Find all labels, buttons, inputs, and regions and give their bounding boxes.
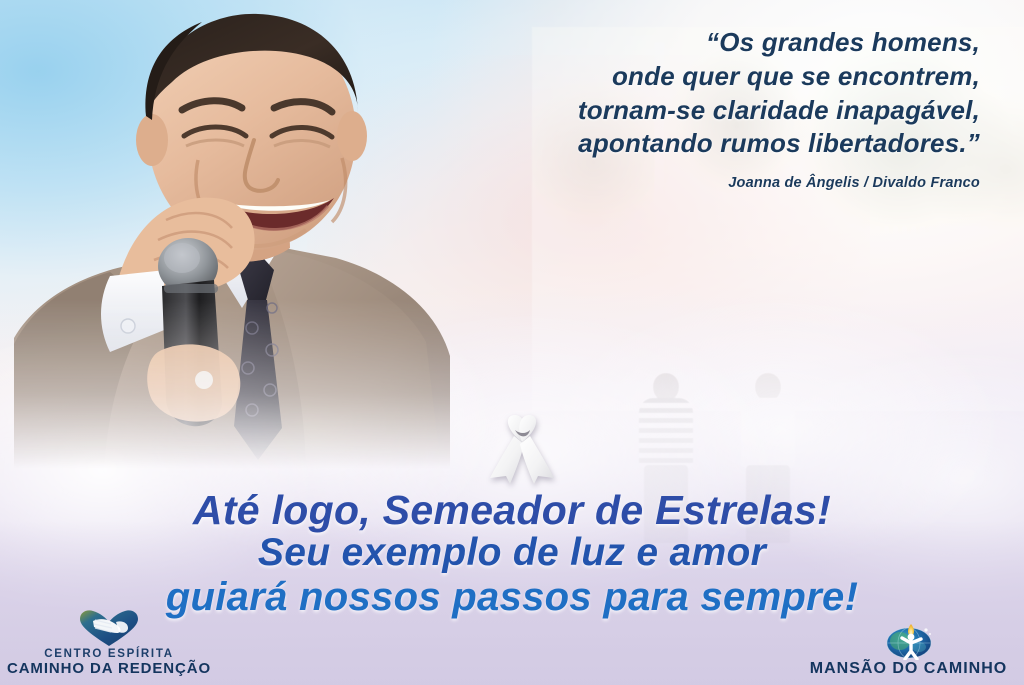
heart-with-hands-icon [78,608,140,648]
headline-line-2: Seu exemplo de luz e amor [0,532,1024,575]
portrait-divaldo-franco [6,8,456,478]
logo-left-line-1: CENTRO ESPÍRITA [7,648,211,660]
quote-line-3: tornam-se claridade inapagável, [420,94,980,128]
logo-right-line-2: MANSÃO DO CAMINHO [810,660,1007,677]
memorial-poster: “Os grandes homens, onde quer que se enc… [0,0,1024,685]
logo-centro-espirita-text: CENTRO ESPÍRITA CAMINHO DA REDENÇÃO [7,648,211,677]
logo-left-line-2: CAMINHO DA REDENÇÃO [7,661,211,677]
quote-attribution: Joanna de Ângelis / Divaldo Franco [420,175,980,191]
headline-line-1: Até logo, Semeador de Estrelas! [0,488,1024,532]
quote-line-4: apontando rumos libertadores.” [420,127,980,161]
quote-line-1: “Os grandes homens, [420,26,980,60]
logo-mansao-text: MANSÃO DO CAMINHO [810,660,1007,677]
headline-block: Até logo, Semeador de Estrelas! Seu exem… [0,488,1024,619]
globe-with-figure-icon [881,618,937,660]
quote-line-2: onde quer que se encontrem, [420,60,980,94]
logo-centro-espirita: CENTRO ESPÍRITA CAMINHO DA REDENÇÃO [4,608,214,677]
logo-mansao-do-caminho: MANSÃO DO CAMINHO [801,618,1016,677]
mourning-ribbon-icon [484,412,560,486]
quote-block: “Os grandes homens, onde quer que se enc… [420,26,980,191]
